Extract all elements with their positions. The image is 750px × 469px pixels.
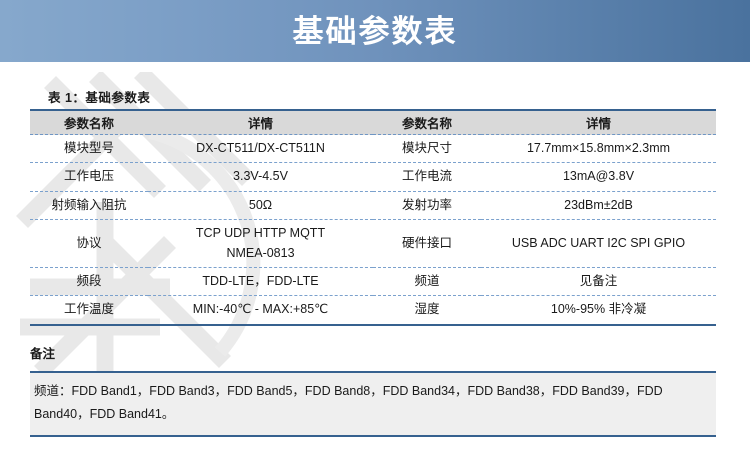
table-row: 射频输入阻抗 50Ω 发射功率 23dBm±2dB	[30, 191, 716, 219]
param-value: 17.7mm×15.8mm×2.3mm	[481, 135, 716, 163]
column-header-detail-2: 详情	[481, 110, 716, 135]
param-name: 工作电流	[373, 163, 481, 191]
column-header-name-1: 参数名称	[30, 110, 148, 135]
table-row: 工作温度 MIN:-40℃ - MAX:+85℃ 湿度 10%-95% 非冷凝	[30, 296, 716, 325]
param-value: DX-CT511/DX-CT511N	[148, 135, 373, 163]
parameter-table: 参数名称 详情 参数名称 详情 模块型号 DX-CT511/DX-CT511N …	[30, 109, 716, 326]
table-row: 协议 TCP UDP HTTP MQTT NMEA-0813 硬件接口 USB …	[30, 220, 716, 268]
param-name: 射频输入阻抗	[30, 191, 148, 219]
page-banner: 基础参数表	[0, 0, 750, 62]
notes-box: 频道：FDD Band1，FDD Band3，FDD Band5，FDD Ban…	[30, 371, 716, 437]
param-value: TCP UDP HTTP MQTT NMEA-0813	[148, 220, 373, 268]
column-header-detail-1: 详情	[148, 110, 373, 135]
param-name: 模块型号	[30, 135, 148, 163]
table-head: 参数名称 详情 参数名称 详情	[30, 110, 716, 135]
document-body: 表 1：基础参数表 参数名称 详情 参数名称 详情 模块型号 DX-CT511/…	[0, 62, 750, 469]
param-value: 23dBm±2dB	[481, 191, 716, 219]
param-name: 发射功率	[373, 191, 481, 219]
param-name: 硬件接口	[373, 220, 481, 268]
table-row: 频段 TDD-LTE，FDD-LTE 频道 见备注	[30, 267, 716, 295]
notes-heading: 备注	[30, 343, 55, 362]
page-title: 基础参数表	[293, 16, 458, 47]
param-value: TDD-LTE，FDD-LTE	[148, 267, 373, 295]
param-value: 10%-95% 非冷凝	[481, 296, 716, 325]
param-name: 协议	[30, 220, 148, 268]
param-name: 工作温度	[30, 296, 148, 325]
notes-text: 频道：FDD Band1，FDD Band3，FDD Band5，FDD Ban…	[34, 380, 712, 426]
param-value: 3.3V-4.5V	[148, 163, 373, 191]
table-row: 模块型号 DX-CT511/DX-CT511N 模块尺寸 17.7mm×15.8…	[30, 135, 716, 163]
param-name: 工作电压	[30, 163, 148, 191]
param-value: 50Ω	[148, 191, 373, 219]
param-name: 湿度	[373, 296, 481, 325]
param-value: 13mA@3.8V	[481, 163, 716, 191]
param-name: 模块尺寸	[373, 135, 481, 163]
param-value: 见备注	[481, 267, 716, 295]
param-name: 频段	[30, 267, 148, 295]
table-header-row: 参数名称 详情 参数名称 详情	[30, 110, 716, 135]
table-row: 工作电压 3.3V-4.5V 工作电流 13mA@3.8V	[30, 163, 716, 191]
table-body: 模块型号 DX-CT511/DX-CT511N 模块尺寸 17.7mm×15.8…	[30, 135, 716, 325]
table-caption: 表 1：基础参数表	[48, 87, 150, 106]
param-value: USB ADC UART I2C SPI GPIO	[481, 220, 716, 268]
param-value: MIN:-40℃ - MAX:+85℃	[148, 296, 373, 325]
column-header-name-2: 参数名称	[373, 110, 481, 135]
param-name: 频道	[373, 267, 481, 295]
